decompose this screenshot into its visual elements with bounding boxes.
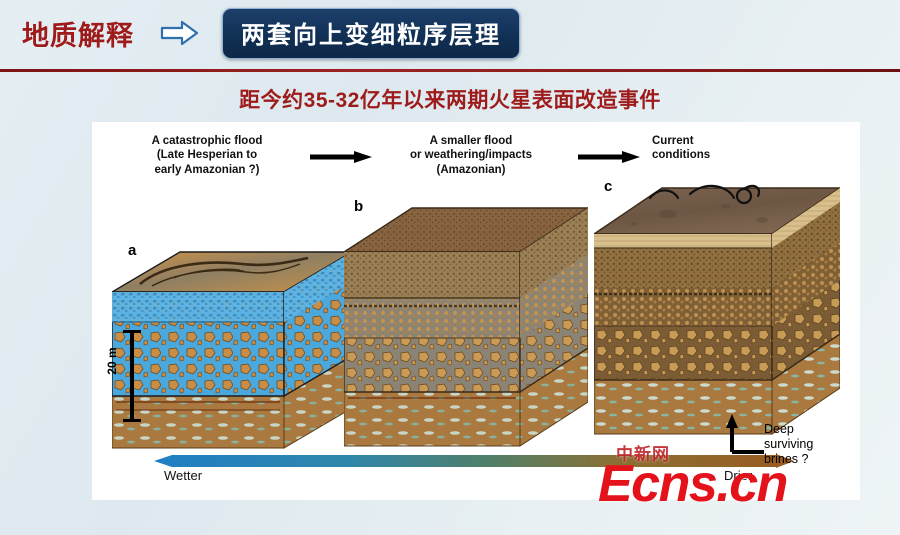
block-diagram-c (594, 184, 840, 444)
right-arrow-outline-icon (160, 19, 200, 47)
header-chip-label: 两套向上变细粒序层理 (241, 22, 501, 49)
scale-bar-line (130, 330, 134, 422)
caption-stage-a: A catastrophic flood (Late Hesperian to … (118, 134, 296, 177)
wetness-gradient-arrow (154, 452, 794, 470)
scale-bar-label: 20 m (105, 339, 119, 383)
page-title: 地质解释 (22, 14, 134, 53)
deep-brines-annotation: Deep surviving brines ? (764, 422, 856, 466)
wetness-label-left: Wetter (164, 468, 202, 483)
scale-bar: 20 m (100, 330, 142, 422)
block-diagram-b (344, 206, 588, 454)
slide-subtitle: 距今约35-32亿年以来两期火星表面改造事件 (0, 84, 900, 114)
flow-arrow-a-to-b (310, 150, 372, 164)
slide-header: 地质解释 两套向上变细粒序层理 (0, 0, 900, 66)
caption-stage-c: Current conditions (652, 134, 784, 163)
block-label-a: a (128, 242, 136, 259)
header-divider (0, 69, 900, 72)
header-chip: 两套向上变细粒序层理 (222, 8, 520, 59)
caption-stage-b: A smaller flood or weathering/impacts (A… (378, 134, 564, 177)
block-diagram-a (112, 250, 352, 460)
flow-arrow-b-to-c (578, 150, 640, 164)
deep-brines-pointer-icon (724, 414, 766, 454)
block-label-b: b (354, 198, 363, 215)
block-label-c: c (604, 178, 612, 195)
wetness-label-right: Drier (724, 468, 752, 483)
figure-panel: A catastrophic flood (Late Hesperian to … (92, 122, 860, 500)
